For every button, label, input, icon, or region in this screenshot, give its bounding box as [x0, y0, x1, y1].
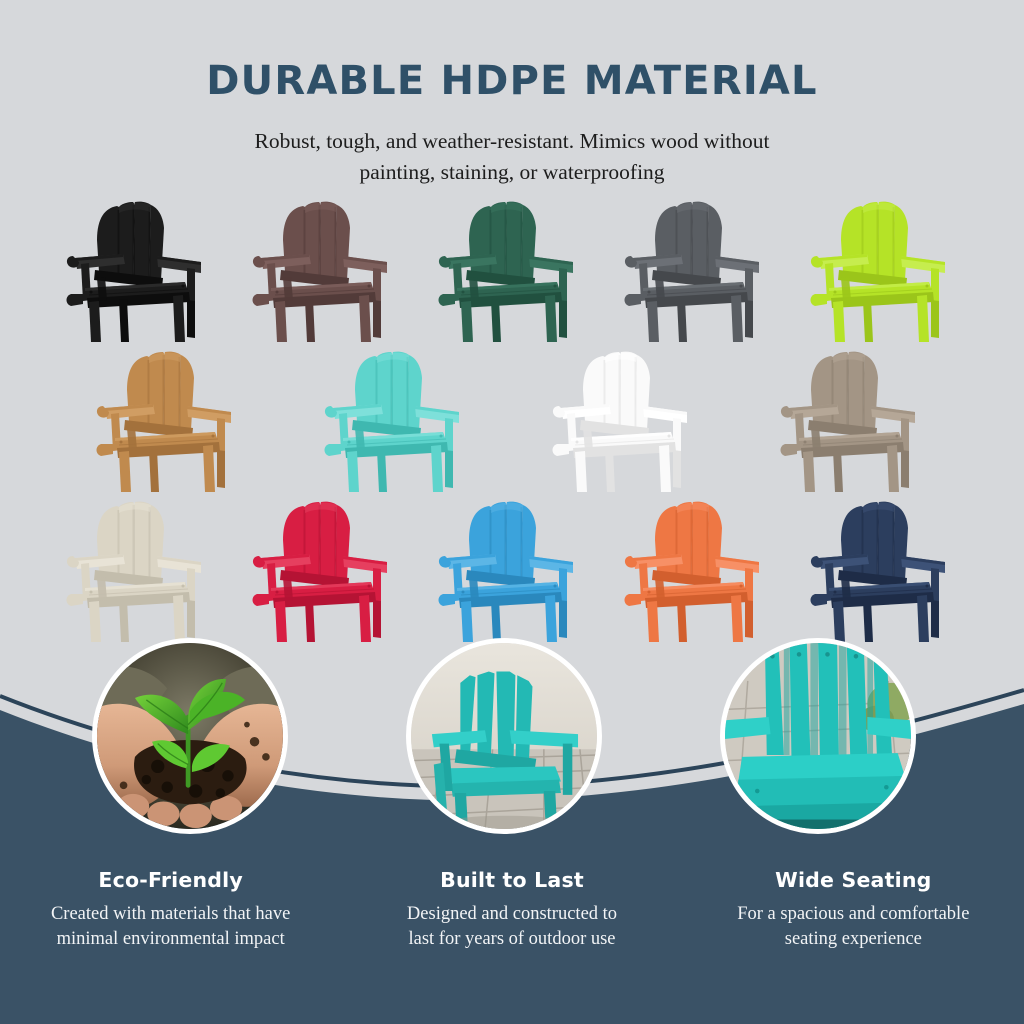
feature-desc-line-1: Designed and constructed to	[407, 904, 617, 924]
feature-built-to-last: Built to Last Designed and constructed t…	[341, 868, 682, 952]
subtitle-line-2: painting, staining, or waterproofing	[0, 157, 1024, 188]
chair-row-2	[0, 346, 1024, 492]
feature-title: Eco-Friendly	[12, 868, 329, 892]
chair-swatch-lime-green[interactable]	[805, 196, 963, 342]
feature-photo-built-to-last	[406, 638, 602, 834]
feature-eco-friendly: Eco-Friendly Created with materials that…	[0, 868, 341, 952]
feature-desc-line-2: minimal environmental impact	[57, 929, 285, 949]
chair-swatch-orange[interactable]	[619, 496, 777, 642]
chair-swatch-crimson-red[interactable]	[247, 496, 405, 642]
chair-swatch-black[interactable]	[61, 196, 219, 342]
feature-desc-line-1: For a spacious and comfortable	[737, 904, 969, 924]
header: DURABLE HDPE MATERIAL Robust, tough, and…	[0, 0, 1024, 188]
chair-swatch-dark-green[interactable]	[433, 196, 591, 342]
chair-swatch-teak[interactable]	[91, 346, 249, 492]
feature-photo-wide-seating	[720, 638, 916, 834]
chair-row-1	[0, 196, 1024, 342]
feature-wide-seating: Wide Seating For a spacious and comforta…	[683, 868, 1024, 952]
chair-swatch-weathered-wood[interactable]	[775, 346, 933, 492]
chair-swatch-navy-blue[interactable]	[805, 496, 963, 642]
feature-photo-eco-friendly	[92, 638, 288, 834]
page-subtitle: Robust, tough, and weather-resistant. Mi…	[0, 126, 1024, 188]
subtitle-line-1: Robust, tough, and weather-resistant. Mi…	[0, 126, 1024, 157]
chair-color-grid	[0, 196, 1024, 642]
chair-swatch-white[interactable]	[547, 346, 705, 492]
page-title: DURABLE HDPE MATERIAL	[0, 58, 1024, 104]
feature-description: Created with materials that have minimal…	[12, 902, 329, 952]
chair-swatch-gray[interactable]	[619, 196, 777, 342]
feature-description: Designed and constructed to last for yea…	[353, 902, 670, 952]
feature-desc-line-1: Created with materials that have	[51, 904, 290, 924]
feature-captions: Eco-Friendly Created with materials that…	[0, 868, 1024, 952]
chair-swatch-turquoise[interactable]	[319, 346, 477, 492]
hands-holding-seedling-photo	[97, 643, 283, 829]
chair-swatch-sand[interactable]	[61, 496, 219, 642]
feature-title: Wide Seating	[695, 868, 1012, 892]
chair-swatch-light-blue[interactable]	[433, 496, 591, 642]
turquoise-chair-wide-seat-closeup-photo	[725, 643, 911, 829]
feature-title: Built to Last	[353, 868, 670, 892]
chair-row-3	[0, 496, 1024, 642]
feature-description: For a spacious and comfortable seating e…	[695, 902, 1012, 952]
feature-desc-line-2: seating experience	[785, 929, 922, 949]
turquoise-chair-on-patio-photo	[411, 643, 597, 829]
infographic-page: DURABLE HDPE MATERIAL Robust, tough, and…	[0, 0, 1024, 1024]
chair-swatch-brown[interactable]	[247, 196, 405, 342]
feature-desc-line-2: last for years of outdoor use	[408, 929, 615, 949]
